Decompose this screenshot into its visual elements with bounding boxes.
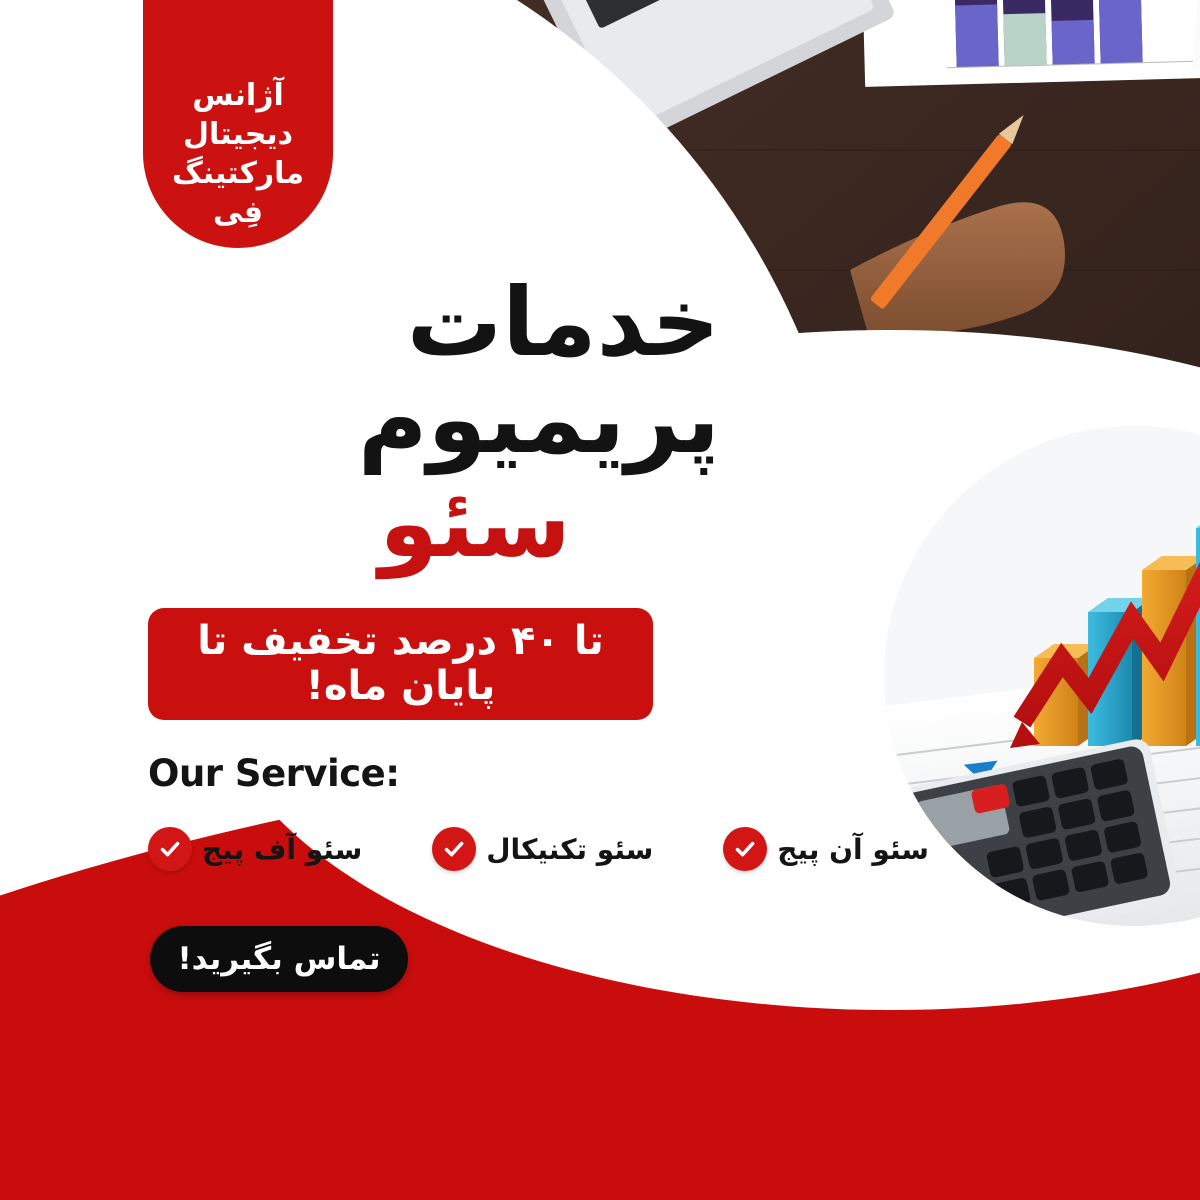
services-list: سئو آف پیج سئو تکنیکال سئو آن پیج [148, 818, 848, 880]
contact-cta-label: تماس بگیرید! [178, 941, 381, 977]
agency-line-1: آژانس [192, 76, 284, 115]
growth-chart-calculator-photo: 45.0363.0447.07 [884, 426, 1200, 926]
check-circle-icon [723, 827, 767, 871]
service-item-on-page[interactable]: سئو آن پیج [723, 827, 929, 871]
check-circle-icon [148, 827, 192, 871]
service-label: سئو تکنیکال [486, 833, 653, 866]
service-item-technical[interactable]: سئو تکنیکال [432, 827, 653, 871]
services-title: Our Service: [148, 752, 400, 795]
poster-canvas: 100% Marketing Diagram [0, 0, 1200, 1200]
contact-cta-button[interactable]: تماس بگیرید! [150, 926, 408, 992]
agency-line-3: مارکتینگ [172, 154, 304, 193]
headline-line-2: سئو [60, 473, 720, 576]
service-item-off-page[interactable]: سئو آف پیج [148, 827, 362, 871]
agency-line-4: فِی [213, 193, 263, 232]
discount-banner: تا ۴۰ درصد تخفیف تا پایان ماه! [148, 608, 653, 720]
headline: خدمات پریمیوم سئو [60, 275, 720, 575]
agency-name-tab: آژانس دیجیتال مارکتینگ فِی [143, 0, 333, 248]
agency-line-2: دیجیتال [183, 115, 293, 154]
service-label: سئو آن پیج [777, 833, 929, 866]
service-label: سئو آف پیج [202, 833, 362, 866]
check-circle-icon [432, 827, 476, 871]
discount-banner-text: تا ۴۰ درصد تخفیف تا پایان ماه! [170, 619, 631, 709]
headline-line-1: خدمات پریمیوم [60, 275, 720, 469]
